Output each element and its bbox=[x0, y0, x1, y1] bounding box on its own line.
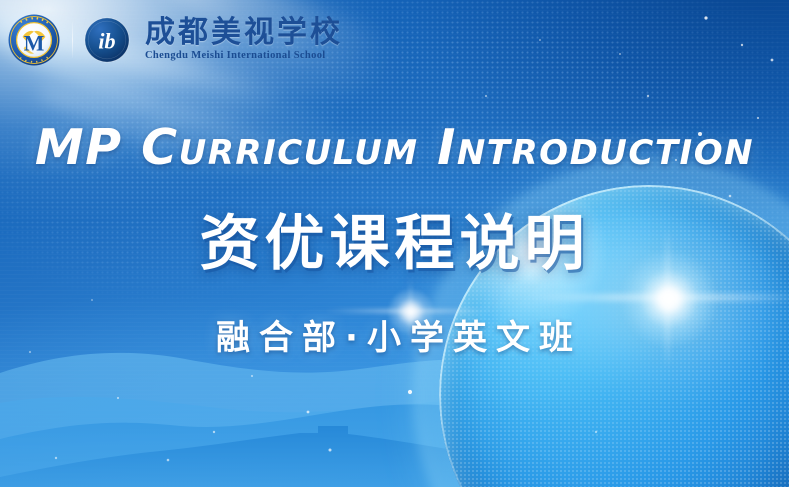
school-name-en: Chengdu Meishi International School bbox=[145, 51, 343, 62]
school-crest-icon: M bbox=[8, 14, 60, 66]
ib-diploma-logo-icon: ib bbox=[84, 17, 130, 63]
slide-main-title-en: MP Curriculum Introduction bbox=[0, 119, 789, 176]
slide-subtitle-cn: 融合部·小学英文班 bbox=[0, 310, 789, 359]
crest-letter: M bbox=[24, 31, 45, 55]
slide-main-title-cn: 资优课程说明 bbox=[0, 195, 789, 282]
vertical-divider-icon bbox=[72, 22, 73, 58]
presentation-slide: M ib 成都美视学校 Chengdu Meishi International… bbox=[0, 0, 789, 487]
ib-logo-letters: ib bbox=[98, 28, 115, 53]
school-branding-header: M ib 成都美视学校 Chengdu Meishi International… bbox=[8, 14, 343, 66]
school-name-block: 成都美视学校 Chengdu Meishi International Scho… bbox=[145, 18, 343, 62]
school-name-cn: 成都美视学校 bbox=[145, 18, 343, 48]
